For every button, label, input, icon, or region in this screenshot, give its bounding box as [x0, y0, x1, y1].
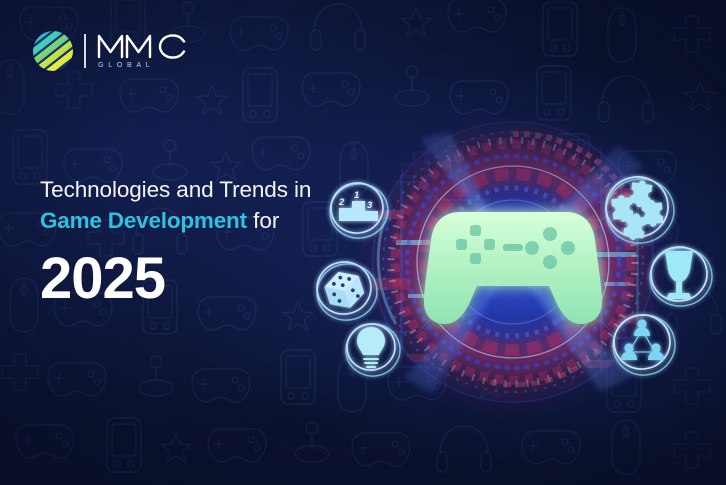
svg-text:3: 3 [367, 200, 373, 211]
headline-line-1: Technologies and Trends in [40, 176, 360, 203]
logo-divider [84, 34, 86, 68]
headline-block: Technologies and Trends in Game Developm… [40, 176, 360, 308]
banner-hero-image: 2 1 3 [0, 0, 726, 485]
headline-accent-text: Game Development [40, 208, 247, 233]
logo-tagline: GLOBAL [96, 60, 188, 69]
headline-year: 2025 [40, 250, 360, 308]
team-network-icon [604, 304, 682, 382]
lightbulb-icon [338, 314, 406, 382]
logo-wordmark-mmc [96, 33, 188, 59]
logo-wordmark-group: GLOBAL [96, 33, 188, 69]
mmc-logo-mark [32, 30, 74, 72]
trophy-icon [642, 237, 718, 313]
headline-plain-text: for [253, 208, 279, 233]
headline-line-2: Game Development for [40, 206, 360, 235]
brand-logo[interactable]: GLOBAL [32, 30, 188, 72]
